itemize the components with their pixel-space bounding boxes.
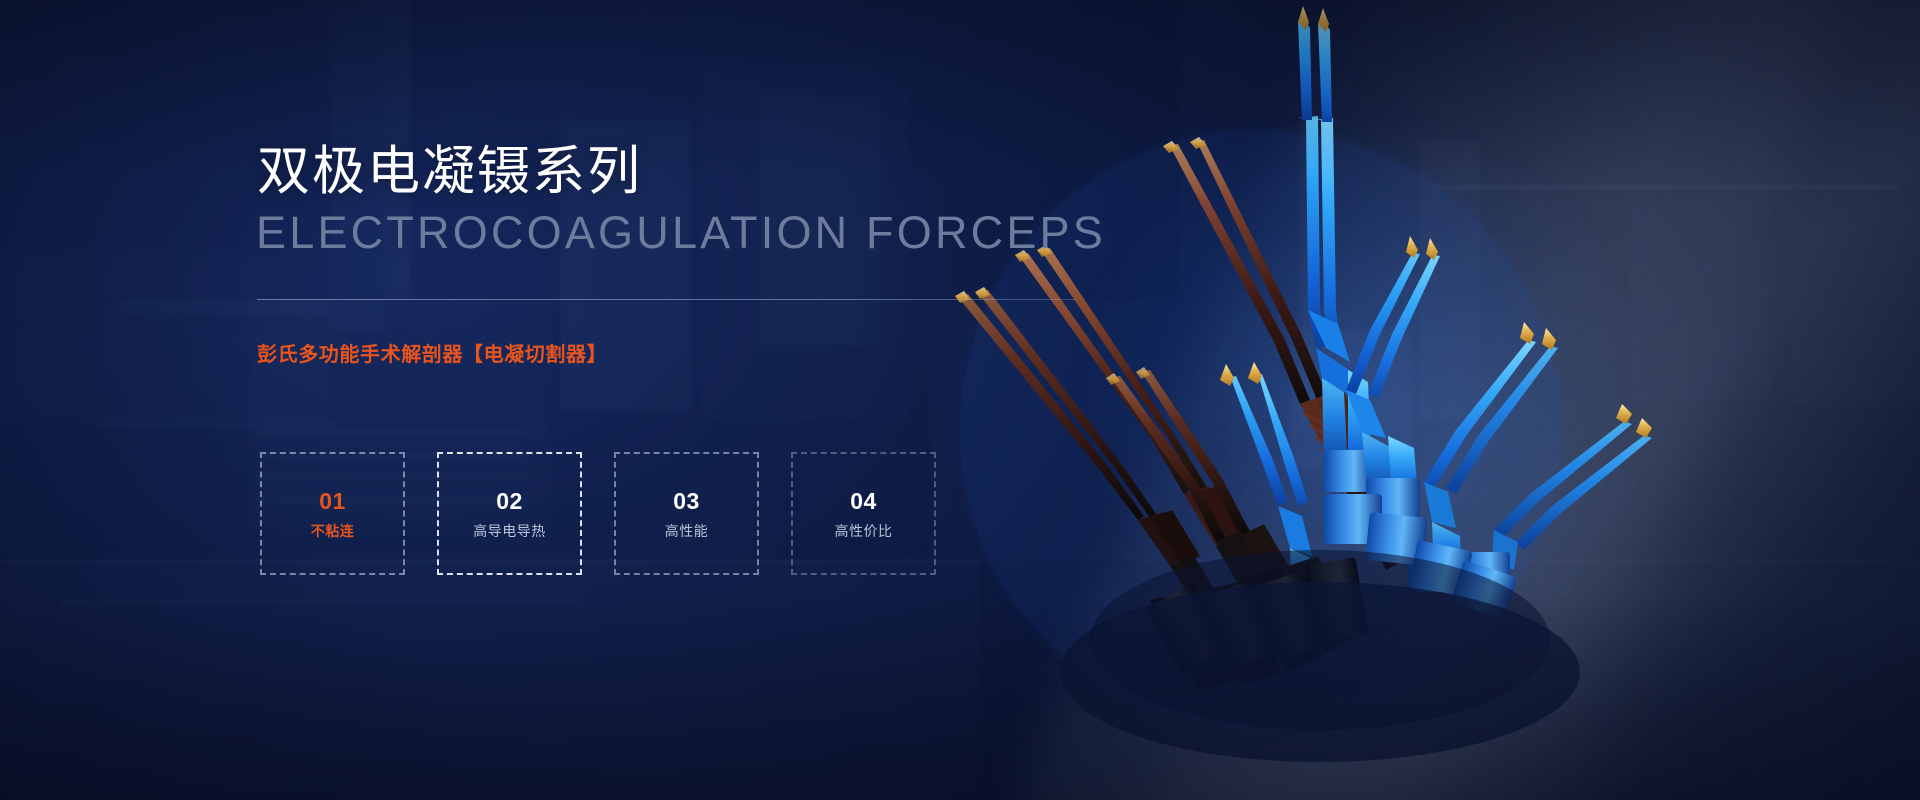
feature-number: 01: [319, 490, 346, 513]
feature-list: 01 不粘连 02 高导电导热 03 高性能 04 高性价比: [260, 452, 936, 575]
page-subtitle-english: ELECTROCOAGULATION FORCEPS: [256, 209, 1106, 256]
feature-label: 高性价比: [835, 524, 893, 538]
divider: [257, 299, 1076, 300]
product-name-label: 彭氏多功能手术解剖器【电凝切割器】: [257, 338, 607, 367]
feature-item-01[interactable]: 01 不粘连: [260, 452, 405, 575]
feature-label: 高导电导热: [473, 524, 546, 538]
feature-number: 03: [673, 490, 700, 513]
feature-label: 不粘连: [311, 524, 355, 538]
feature-item-04[interactable]: 04 高性价比: [791, 452, 936, 575]
banner-content: 双极电凝镊系列 ELECTROCOAGULATION FORCEPS 彭氏多功能…: [0, 0, 1100, 800]
feature-item-02[interactable]: 02 高导电导热: [437, 452, 582, 575]
feature-item-03[interactable]: 03 高性能: [614, 452, 759, 575]
feature-number: 04: [850, 490, 877, 513]
product-banner: 双极电凝镊系列 ELECTROCOAGULATION FORCEPS 彭氏多功能…: [0, 0, 1920, 800]
feature-number: 02: [496, 490, 523, 513]
feature-label: 高性能: [665, 524, 709, 538]
page-title: 双极电凝镊系列: [257, 143, 642, 201]
